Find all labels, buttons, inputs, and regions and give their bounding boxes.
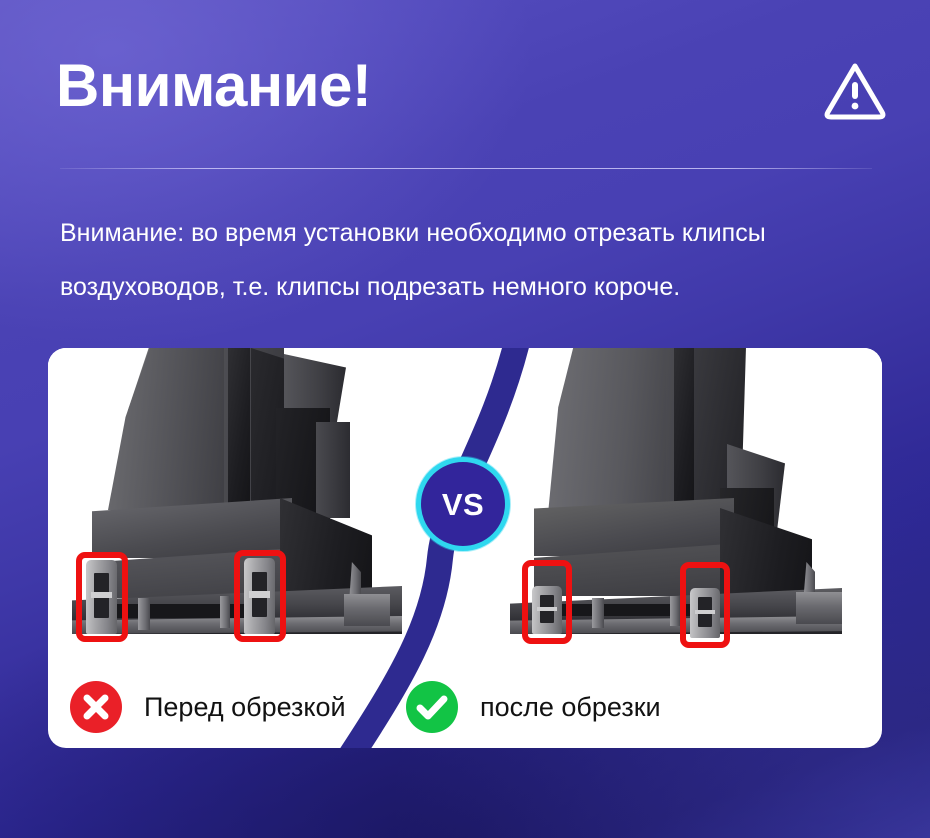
check-circle-icon [406, 681, 458, 733]
highlight-box [680, 562, 730, 648]
duct-part-image-right [452, 348, 882, 666]
page-title: Внимание! [56, 56, 371, 116]
warning-triangle-icon [822, 58, 888, 124]
label-after-cutting-text: после обрезки [480, 692, 661, 723]
vs-badge: VS [416, 457, 510, 551]
vs-label: VS [442, 489, 484, 520]
notice-text: Внимание: во время установки необходимо … [60, 206, 886, 314]
highlight-box [522, 560, 572, 644]
header: Внимание! [0, 0, 930, 172]
comparison-card: VS Перед обрезкой после об [48, 348, 882, 748]
duct-part-image-left [48, 348, 478, 666]
label-after-cutting: после обрезки [406, 666, 866, 748]
header-divider [60, 168, 872, 169]
highlight-box [76, 552, 128, 642]
comparison-labels: Перед обрезкой после обрезки [48, 666, 882, 748]
photo-after-cutting [452, 348, 882, 666]
label-before-cutting: Перед обрезкой [48, 666, 462, 748]
cross-circle-icon [70, 681, 122, 733]
promo-warning-page: Внимание! Внимание: во время установки н… [0, 0, 930, 838]
photo-before-cutting [48, 348, 478, 666]
label-before-cutting-text: Перед обрезкой [144, 692, 346, 723]
highlight-box [234, 550, 286, 642]
